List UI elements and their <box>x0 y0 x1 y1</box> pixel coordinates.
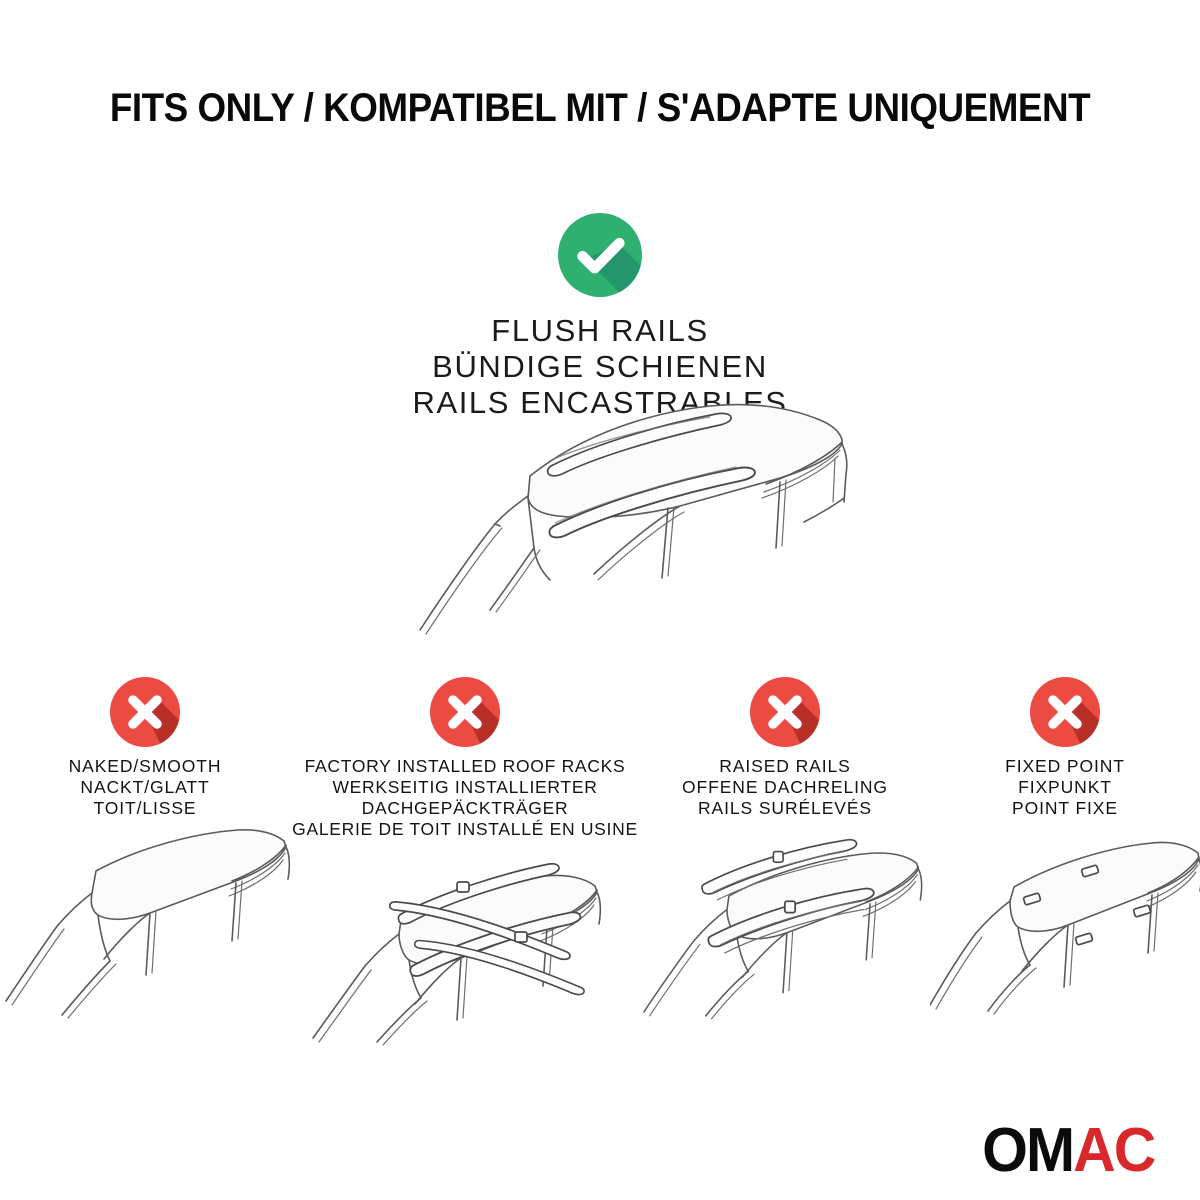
logo-text-accent: AC <box>1073 1116 1154 1185</box>
label-line-4: GALERIE DE TOIT INSTALLÉ EN USINE <box>292 819 638 840</box>
label-line-3: RAILS SURÉLEVÉS <box>682 798 888 819</box>
label-line-1: FACTORY INSTALLED ROOF RACKS <box>292 756 638 777</box>
label-line-1: RAISED RAILS <box>682 756 888 777</box>
logo-text-dark: OM <box>982 1116 1073 1185</box>
incompatible-label-factory-racks: FACTORY INSTALLED ROOF RACKS WERKSEITIG … <box>292 756 638 840</box>
label-line-2: NACKT/GLATT <box>69 777 222 798</box>
incompatible-section: NAKED/SMOOTH NACKT/GLATT TOIT/LISSE <box>0 676 1200 1046</box>
car-roof-fixed-point-illustration <box>930 825 1200 1025</box>
x-circle-icon <box>109 676 181 748</box>
label-line-2: FIXPUNKT <box>1005 777 1125 798</box>
compatible-label-line-2: BÜNDIGE SCHIENEN <box>0 349 1200 385</box>
label-line-3: POINT FIXE <box>1005 798 1125 819</box>
x-circle-icon <box>1029 676 1101 748</box>
incompatible-label-fixed-point: FIXED POINT FIXPUNKT POINT FIXE <box>1005 756 1125 819</box>
label-line-2: OFFENE DACHRELING <box>682 777 888 798</box>
incompatible-item-raised-rails: RAISED RAILS OFFENE DACHRELING RAILS SUR… <box>640 676 930 1025</box>
compatible-section: FLUSH RAILS BÜNDIGE SCHIENEN RAILS ENCAS… <box>0 212 1200 421</box>
label-line-1: NAKED/SMOOTH <box>69 756 222 777</box>
car-roof-raised-rails-illustration <box>640 825 930 1025</box>
car-roof-factory-racks-illustration <box>290 846 640 1046</box>
car-roof-naked-illustration <box>0 825 290 1025</box>
x-circle-icon <box>749 676 821 748</box>
incompatible-item-factory-racks: FACTORY INSTALLED ROOF RACKS WERKSEITIG … <box>290 676 640 1046</box>
label-line-2: WERKSEITIG INSTALLIERTER <box>292 777 638 798</box>
incompatible-item-fixed-point: FIXED POINT FIXPUNKT POINT FIXE <box>930 676 1200 1025</box>
page-title: FITS ONLY / KOMPATIBEL MIT / S'ADAPTE UN… <box>48 86 1152 131</box>
omac-logo: OMAC <box>982 1120 1154 1182</box>
label-line-1: FIXED POINT <box>1005 756 1125 777</box>
incompatible-label-naked: NAKED/SMOOTH NACKT/GLATT TOIT/LISSE <box>69 756 222 819</box>
label-line-3: TOIT/LISSE <box>69 798 222 819</box>
car-roof-with-flush-rails-illustration <box>380 398 850 638</box>
incompatible-label-raised-rails: RAISED RAILS OFFENE DACHRELING RAILS SUR… <box>682 756 888 819</box>
x-circle-icon <box>429 676 501 748</box>
label-line-3: DACHGEPÄCKTRÄGER <box>292 798 638 819</box>
check-circle-icon <box>557 212 643 298</box>
incompatible-item-naked: NAKED/SMOOTH NACKT/GLATT TOIT/LISSE <box>0 676 290 1025</box>
compatible-label-line-1: FLUSH RAILS <box>0 313 1200 349</box>
poster-root: FITS ONLY / KOMPATIBEL MIT / S'ADAPTE UN… <box>0 0 1200 1200</box>
